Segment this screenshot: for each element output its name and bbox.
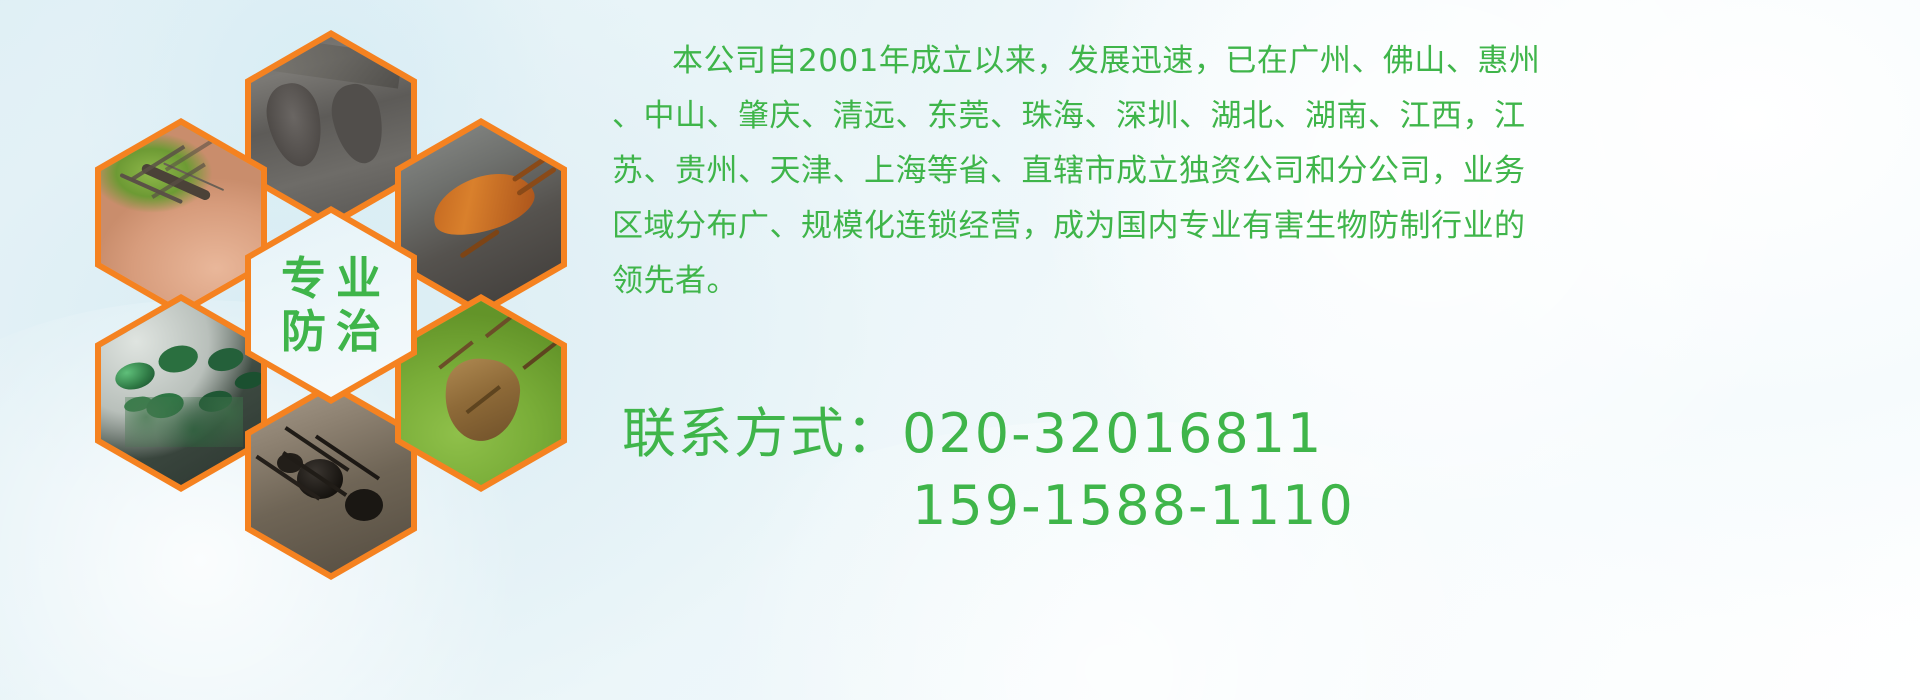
tagline-line-1: 专业 bbox=[271, 255, 391, 302]
cockroach-image bbox=[401, 125, 561, 309]
hexagon-photo-collage: 专业 防治 bbox=[95, 8, 595, 568]
intro-line: 本公司自2001年成立以来，发展迅速，已在广州、佛山、惠州 bbox=[612, 34, 1874, 89]
hex-photo-cockroach-frame bbox=[401, 125, 561, 309]
ant-image bbox=[251, 389, 411, 573]
mosquito-image bbox=[101, 125, 261, 309]
stink-bug-image bbox=[401, 301, 561, 485]
fly-image bbox=[101, 301, 261, 485]
hex-center-label: 专业 防治 bbox=[245, 206, 417, 404]
hex-photo-ant bbox=[245, 382, 417, 580]
hex-photo-rat bbox=[245, 30, 417, 228]
company-intro-paragraph: 本公司自2001年成立以来，发展迅速，已在广州、佛山、惠州 、中山、肇庆、清远、… bbox=[612, 34, 1874, 309]
hex-photo-rat-frame bbox=[251, 37, 411, 221]
hex-photo-stink-bug-frame bbox=[401, 301, 561, 485]
rat-image bbox=[251, 37, 411, 221]
intro-copy-column: 本公司自2001年成立以来，发展迅速，已在广州、佛山、惠州 、中山、肇庆、清远、… bbox=[612, 34, 1874, 309]
hex-photo-fly bbox=[95, 294, 267, 492]
contact-primary-line[interactable]: 联系方式：020-32016811 bbox=[622, 398, 1902, 470]
hex-photo-cockroach bbox=[395, 118, 567, 316]
promotional-banner: 专业 防治 本公司自2001年成立以来，发展迅速，已在广州、佛山、惠州 、中山、… bbox=[0, 0, 1920, 700]
contact-block: 联系方式：020-32016811 159-1588-1110 bbox=[622, 398, 1902, 542]
intro-line: 区域分布广、规模化连锁经营，成为国内专业有害生物防制行业的 bbox=[612, 199, 1874, 254]
hex-center-tagline: 专业 防治 bbox=[245, 206, 417, 404]
tagline-line-2: 防治 bbox=[271, 308, 391, 355]
intro-line: 、中山、肇庆、清远、东莞、珠海、深圳、湖北、湖南、江西，江 bbox=[612, 89, 1874, 144]
hex-photo-mosquito bbox=[95, 118, 267, 316]
hex-photo-mosquito-frame bbox=[101, 125, 261, 309]
hex-photo-fly-frame bbox=[101, 301, 261, 485]
hex-photo-stink-bug bbox=[395, 294, 567, 492]
intro-line: 领先者。 bbox=[612, 254, 1874, 309]
intro-line: 苏、贵州、天津、上海等省、直辖市成立独资公司和分公司，业务 bbox=[612, 144, 1874, 199]
contact-secondary-line[interactable]: 159-1588-1110 bbox=[622, 470, 1902, 542]
hex-photo-ant-frame bbox=[251, 389, 411, 573]
